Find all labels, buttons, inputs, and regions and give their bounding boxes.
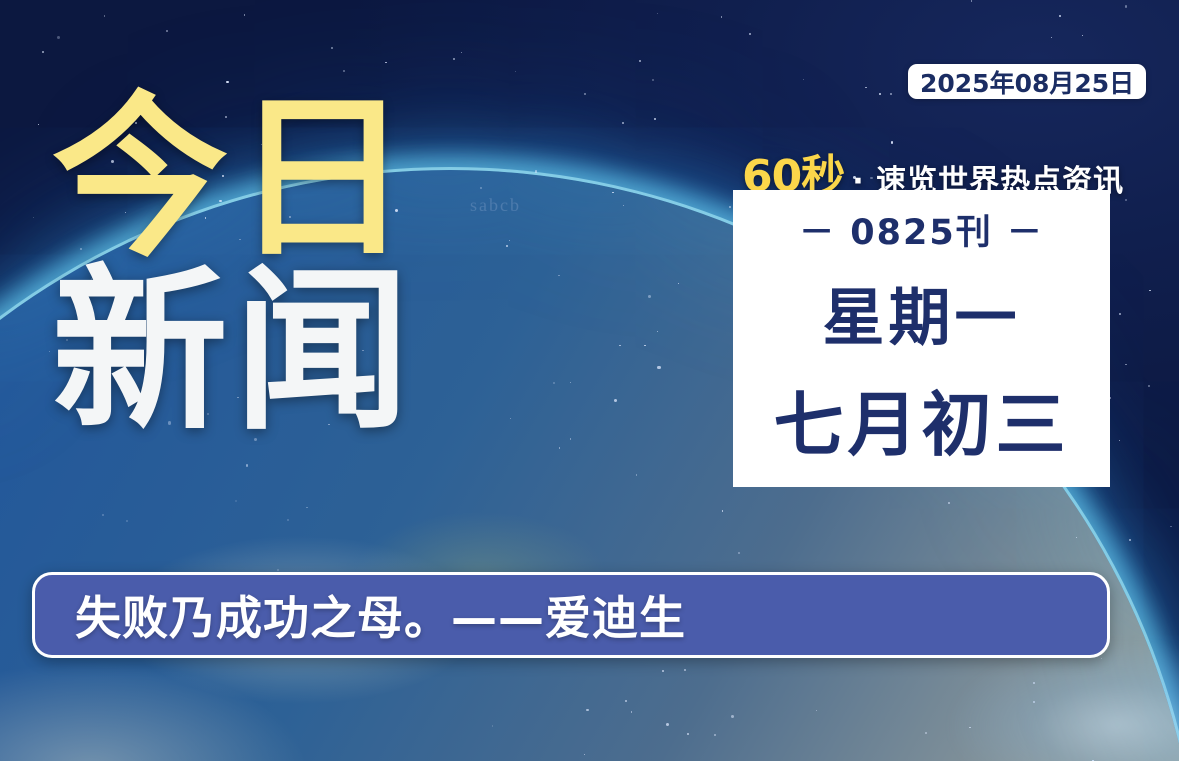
issue-number: － 0825刊 －	[799, 204, 1044, 255]
issue-card: － 0825刊 － 星期一 七月初三	[733, 190, 1110, 487]
news-poster: sabcb 今日 新闻 2025年08月25日 60秒 · 速览世界热点资讯 －…	[0, 0, 1179, 761]
lunar-date-label: 七月初三	[774, 369, 1070, 470]
lens-flare	[949, 641, 1179, 761]
date-badge-label: 2025年08月25日	[920, 64, 1134, 100]
watermark-text: sabcb	[470, 195, 521, 216]
quote-bar: 失败乃成功之母。——爱迪生	[32, 572, 1110, 658]
page-title: 今日 新闻	[52, 96, 416, 435]
page-title-line2: 新闻	[52, 269, 416, 434]
date-badge: 2025年08月25日	[908, 64, 1146, 99]
weekday-label: 星期一	[822, 267, 1020, 357]
quote-text: 失败乃成功之母。——爱迪生	[75, 582, 686, 648]
page-title-line1: 今日	[52, 96, 416, 261]
